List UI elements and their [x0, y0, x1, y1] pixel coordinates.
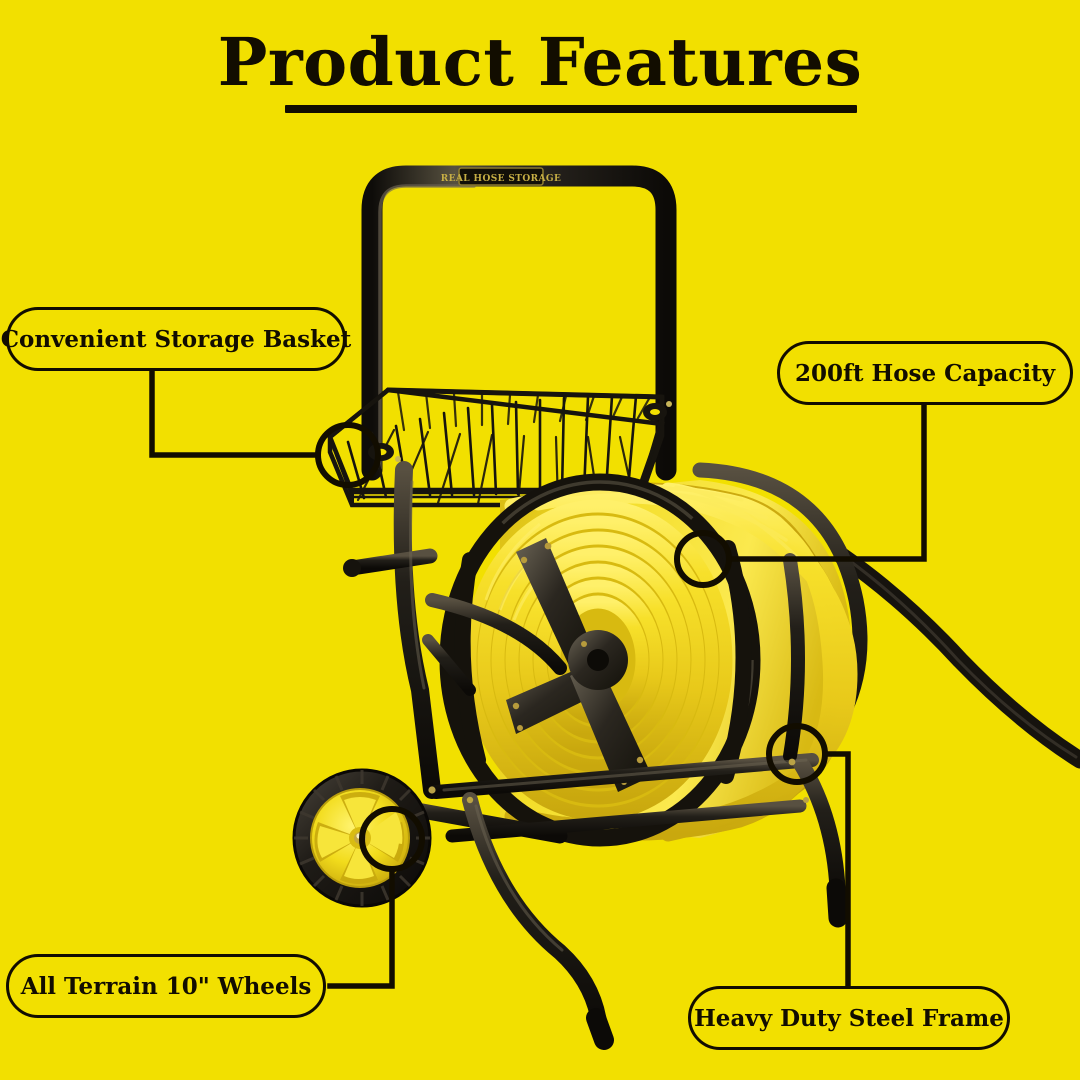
marker-ring-wheels [362, 809, 422, 869]
callout-leaders [0, 0, 1080, 1080]
leader-steel-frame [825, 754, 848, 984]
callout-wheels[interactable]: All Terrain 10" Wheels [6, 954, 326, 1018]
callout-wheels-label: All Terrain 10" Wheels [21, 973, 312, 1000]
callout-storage-basket-label: Convenient Storage Basket [1, 326, 352, 353]
callout-hose-capacity[interactable]: 200ft Hose Capacity [777, 341, 1073, 405]
leader-storage-basket [152, 373, 318, 455]
marker-ring-steel-frame [769, 726, 825, 782]
callout-steel-frame[interactable]: Heavy Duty Steel Frame [688, 986, 1010, 1050]
marker-ring-hose-capacity [677, 533, 729, 585]
leader-wheels [330, 869, 392, 986]
marker-ring-storage-basket [318, 425, 378, 485]
infographic-canvas: REAL HOSE STORAGE [0, 0, 1080, 1080]
callout-storage-basket[interactable]: Convenient Storage Basket [6, 307, 346, 371]
leader-hose-capacity [729, 407, 924, 559]
callout-hose-capacity-label: 200ft Hose Capacity [795, 360, 1055, 387]
callout-steel-frame-label: Heavy Duty Steel Frame [694, 1005, 1004, 1032]
